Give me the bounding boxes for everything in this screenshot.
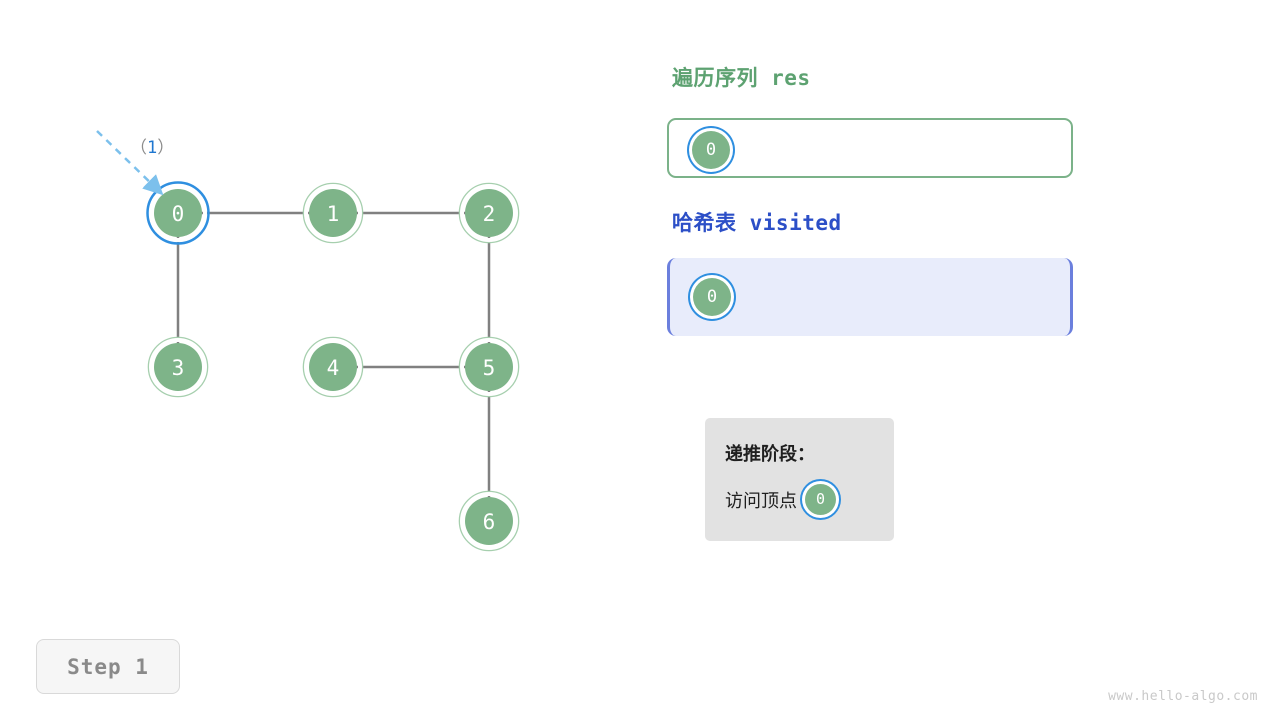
graph-node-6: 6 <box>460 492 519 551</box>
illustration-canvas: 0123456 （1） 遍历序列 res 0 哈希表 visited 0 递推阶… <box>0 0 1280 720</box>
node-label: 6 <box>483 510 496 534</box>
step-badge: Step 1 <box>36 639 180 694</box>
annotation-step-label: （1） <box>130 138 174 158</box>
res-item-0: 0 <box>692 131 730 169</box>
info-panel: 递推阶段： 访问顶点 0 <box>705 418 894 541</box>
res-array-container: 0 <box>667 118 1073 178</box>
right-panel: 遍历序列 res 0 哈希表 visited 0 递推阶段： 访问顶点 0 <box>660 0 1280 720</box>
graph-panel: 0123456 （1） <box>0 0 640 720</box>
node-label: 1 <box>327 202 340 226</box>
graph-node-1: 1 <box>304 184 363 243</box>
step-annotation: （1） <box>97 131 174 190</box>
step-badge-label: Step 1 <box>67 655 149 679</box>
watermark: www.hello-algo.com <box>1108 689 1258 704</box>
graph-node-0: 0 <box>148 183 209 244</box>
info-stage-label: 递推阶段： <box>725 440 815 466</box>
node-label: 5 <box>483 356 496 380</box>
node-label: 2 <box>483 202 496 226</box>
info-action-label: 访问顶点 <box>725 487 797 513</box>
node-layer: 0123456 <box>148 183 519 551</box>
info-action-row: 访问顶点 0 <box>725 484 836 515</box>
node-label: 3 <box>172 356 185 380</box>
graph-svg: 0123456 （1） <box>0 0 640 720</box>
visited-hashset-container: 0 <box>667 258 1073 336</box>
node-label: 4 <box>327 356 340 380</box>
visited-section-title: 哈希表 visited <box>672 207 842 237</box>
annotation-close-paren: ） <box>157 138 174 158</box>
graph-node-4: 4 <box>304 338 363 397</box>
annotation-step-number: 1 <box>147 138 157 158</box>
graph-node-2: 2 <box>460 184 519 243</box>
graph-node-5: 5 <box>460 338 519 397</box>
visited-item-0: 0 <box>693 278 731 316</box>
node-label: 0 <box>172 202 185 226</box>
res-section-title: 遍历序列 res <box>672 62 811 92</box>
annotation-open-paren: （ <box>130 138 147 158</box>
graph-node-3: 3 <box>149 338 208 397</box>
info-action-node: 0 <box>805 484 836 515</box>
